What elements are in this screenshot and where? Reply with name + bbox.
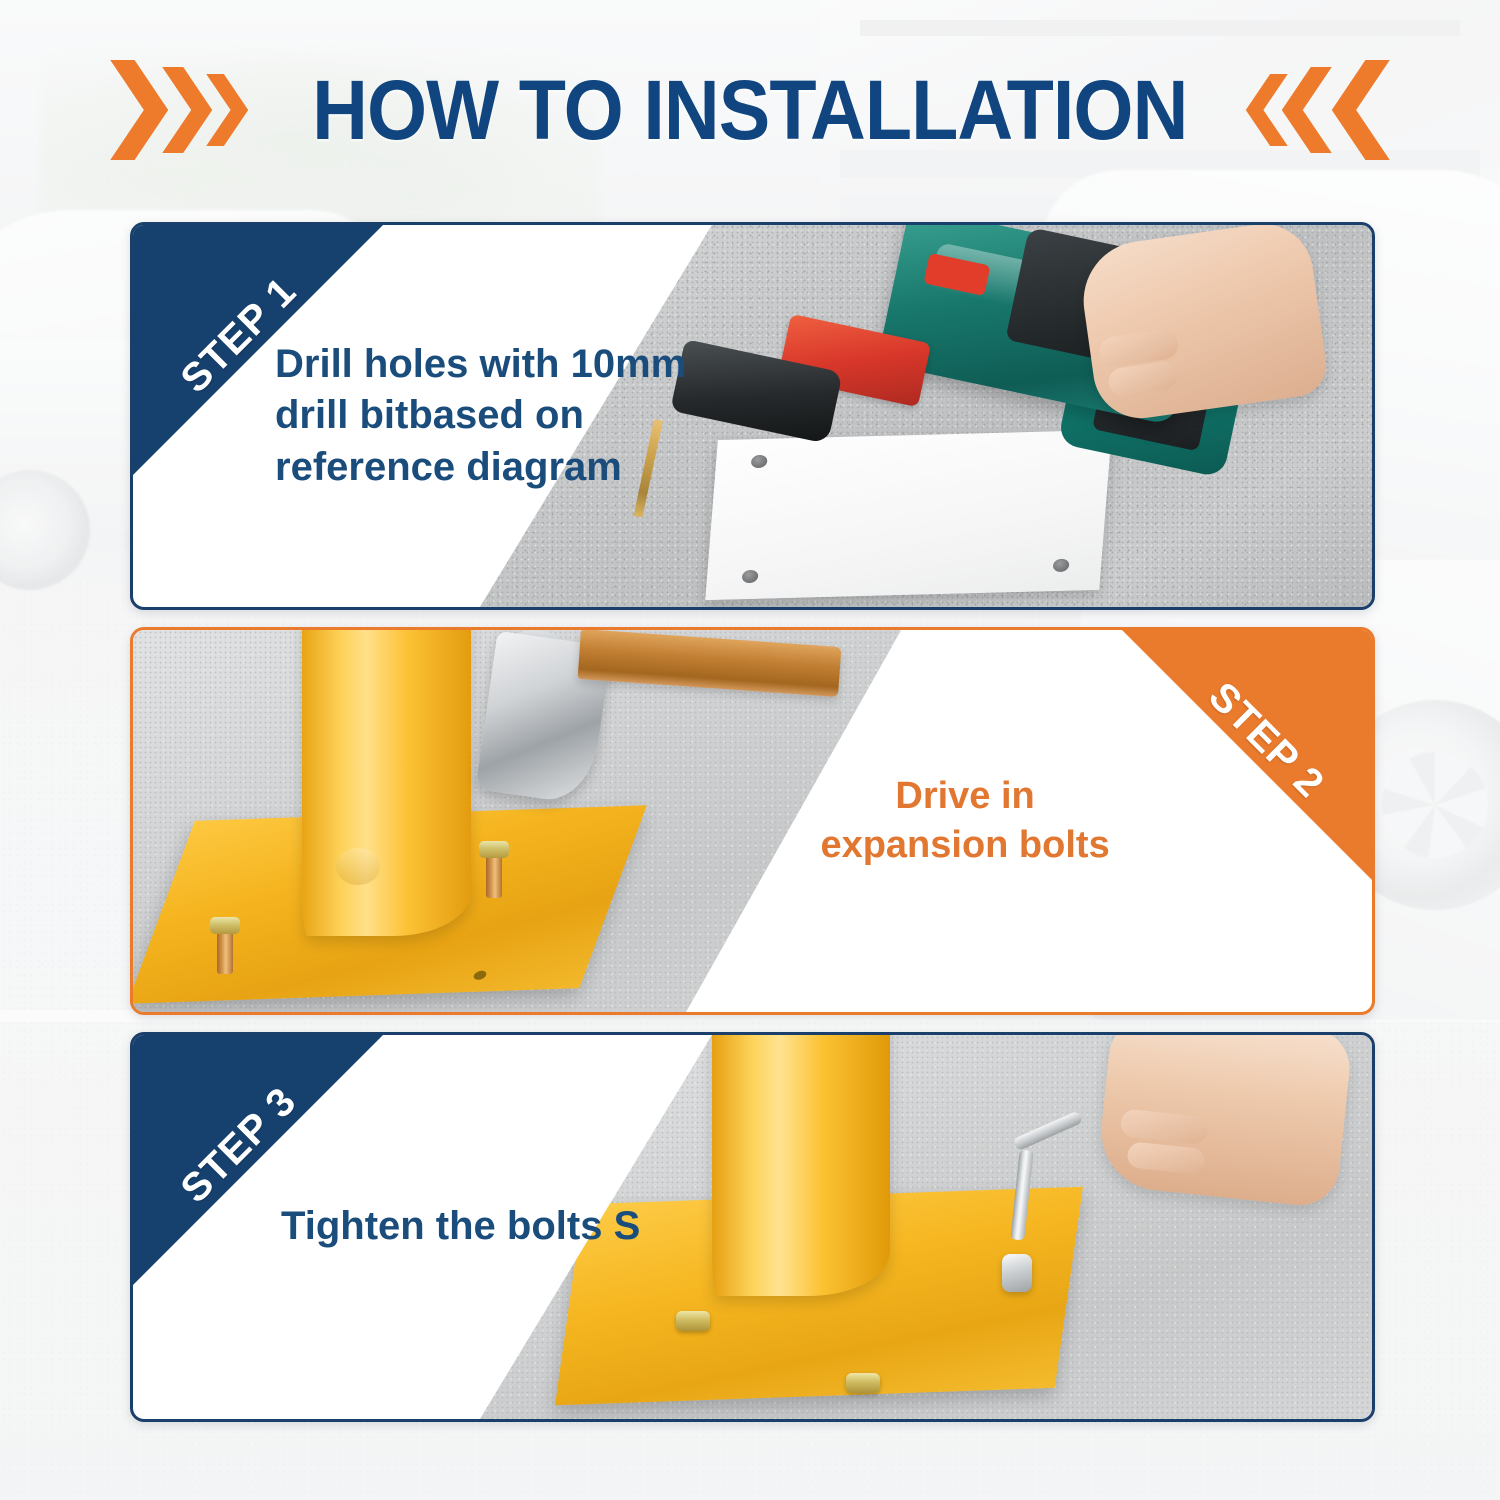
page-title: HOW TO INSTALLATION — [312, 68, 1187, 152]
finger — [1127, 1141, 1206, 1175]
step-2-line-2: expansion bolts — [820, 821, 1109, 870]
hand — [1096, 1035, 1354, 1208]
header: HOW TO INSTALLATION — [0, 50, 1500, 170]
bolt-head — [210, 917, 240, 934]
badge-triangle — [133, 1035, 383, 1285]
expansion-bolt — [486, 852, 502, 898]
step-card-1: Drill holes with 10mm drill bitbased on … — [130, 222, 1375, 610]
yellow-bollard-post — [302, 630, 471, 936]
step-card-2: Drive in expansion bolts STEP 2 — [130, 627, 1375, 1015]
finger — [1120, 1108, 1209, 1145]
badge-triangle — [1122, 630, 1372, 880]
step-3-badge: STEP 3 — [133, 1035, 383, 1285]
plate-hole — [472, 970, 487, 979]
step-card-3: Tighten the bolts S STEP 3 — [130, 1032, 1375, 1422]
plate-hole — [1053, 559, 1070, 572]
bollard-foot-weld — [336, 848, 380, 886]
chevrons-right-icon — [110, 60, 248, 160]
step-2-line-1: Drive in — [820, 772, 1109, 821]
bolt-head — [479, 841, 509, 858]
step-2-instruction: Drive in expansion bolts — [820, 772, 1109, 869]
expansion-bolt — [217, 928, 233, 974]
step-2-badge: STEP 2 — [1122, 630, 1372, 880]
wrench-socket — [1002, 1254, 1032, 1292]
badge-triangle — [133, 225, 383, 475]
step-1-badge: STEP 1 — [133, 225, 383, 475]
chevrons-left-icon — [1252, 60, 1390, 160]
hand — [1075, 225, 1329, 424]
